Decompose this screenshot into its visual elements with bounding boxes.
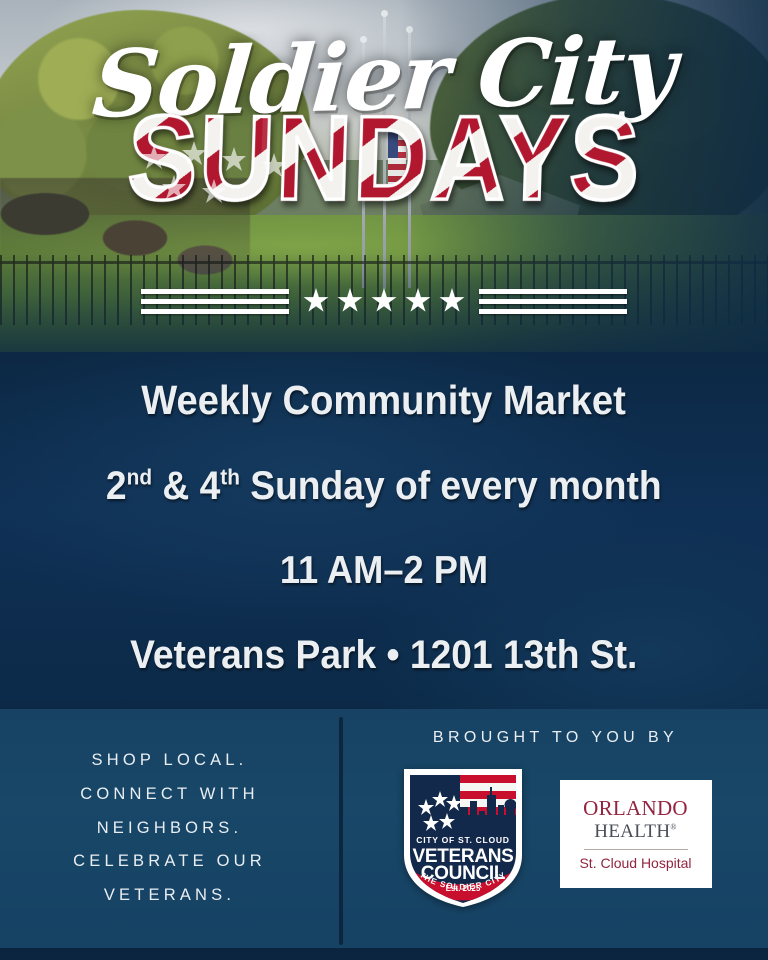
flyer-canvas: Soldier City SUNDAYS (0, 0, 768, 960)
schedule-ordinal-2: th (221, 465, 241, 490)
logo-block-title: SUNDAYS (126, 100, 643, 220)
stripe-bars-left (141, 289, 289, 314)
event-schedule: 2nd & 4th Sunday of every month (106, 464, 662, 509)
tagline-line: SHOP LOCAL. (73, 744, 266, 778)
stripe-bar (479, 289, 627, 294)
orlando-health-health-text: HEALTH (594, 821, 670, 842)
footer-strip (0, 948, 768, 960)
logo-block-title-wrap: SUNDAYS (128, 121, 641, 211)
tagline-line: CELEBRATE OUR (73, 845, 266, 879)
schedule-ordinal-1: nd (127, 465, 152, 490)
stripe-bar (141, 309, 289, 314)
brought-to-you-by-label: BROUGHT TO YOU BY (433, 729, 678, 747)
orlando-health-subtitle: St. Cloud Hospital (579, 856, 691, 870)
stripe-bars-right (479, 289, 627, 314)
tagline-line: CONNECT WITH (73, 778, 266, 812)
star-icon (405, 288, 431, 314)
hero-photo-banner: Soldier City SUNDAYS (0, 0, 768, 352)
star-icon (337, 288, 363, 314)
star-icon (303, 288, 329, 314)
orlando-health-word-health: HEALTH® (594, 821, 676, 843)
stripe-bar (141, 289, 289, 294)
star-icon (371, 288, 397, 314)
sponsor-logo-row: CITY OF ST. CLOUD VETERANS COUNCIL Est. … (400, 761, 712, 907)
schedule-number-1: 2 (106, 464, 127, 508)
logo-rule (584, 849, 688, 850)
tagline-line: VETERANS. (73, 879, 266, 913)
sponsors-block: BROUGHT TO YOU BY (343, 709, 768, 948)
orlando-health-word-orlando: ORLANDO (583, 798, 688, 819)
tagline-line: NEIGHBORS. (73, 812, 266, 846)
event-headline: Weekly Community Market (142, 377, 627, 424)
orlando-health-logo[interactable]: ORLANDO HEALTH® St. Cloud Hospital (560, 780, 712, 888)
event-details-section: Weekly Community Market 2nd & 4th Sunday… (0, 352, 768, 709)
event-location: Veterans Park • 1201 13th St. (130, 633, 637, 678)
stripe-bar (479, 309, 627, 314)
stripe-bar (141, 299, 289, 304)
schedule-suffix: Sunday of every month (240, 464, 662, 508)
stars-and-stripes-divider (0, 284, 768, 318)
stripe-bar (479, 299, 627, 304)
star-row (303, 288, 465, 314)
schedule-conjunction: & 4 (152, 464, 220, 508)
tagline-block: SHOP LOCAL. CONNECT WITH NEIGHBORS. CELE… (0, 709, 339, 948)
shield-top-text: CITY OF ST. CLOUD (416, 835, 509, 845)
sponsor-section: SHOP LOCAL. CONNECT WITH NEIGHBORS. CELE… (0, 709, 768, 948)
event-time: 11 AM–2 PM (280, 549, 488, 593)
registered-trademark-icon: ® (670, 822, 676, 831)
tagline-text: SHOP LOCAL. CONNECT WITH NEIGHBORS. CELE… (73, 744, 266, 913)
star-icon (439, 288, 465, 314)
veterans-council-shield-logo[interactable]: CITY OF ST. CLOUD VETERANS COUNCIL Est. … (400, 761, 526, 907)
